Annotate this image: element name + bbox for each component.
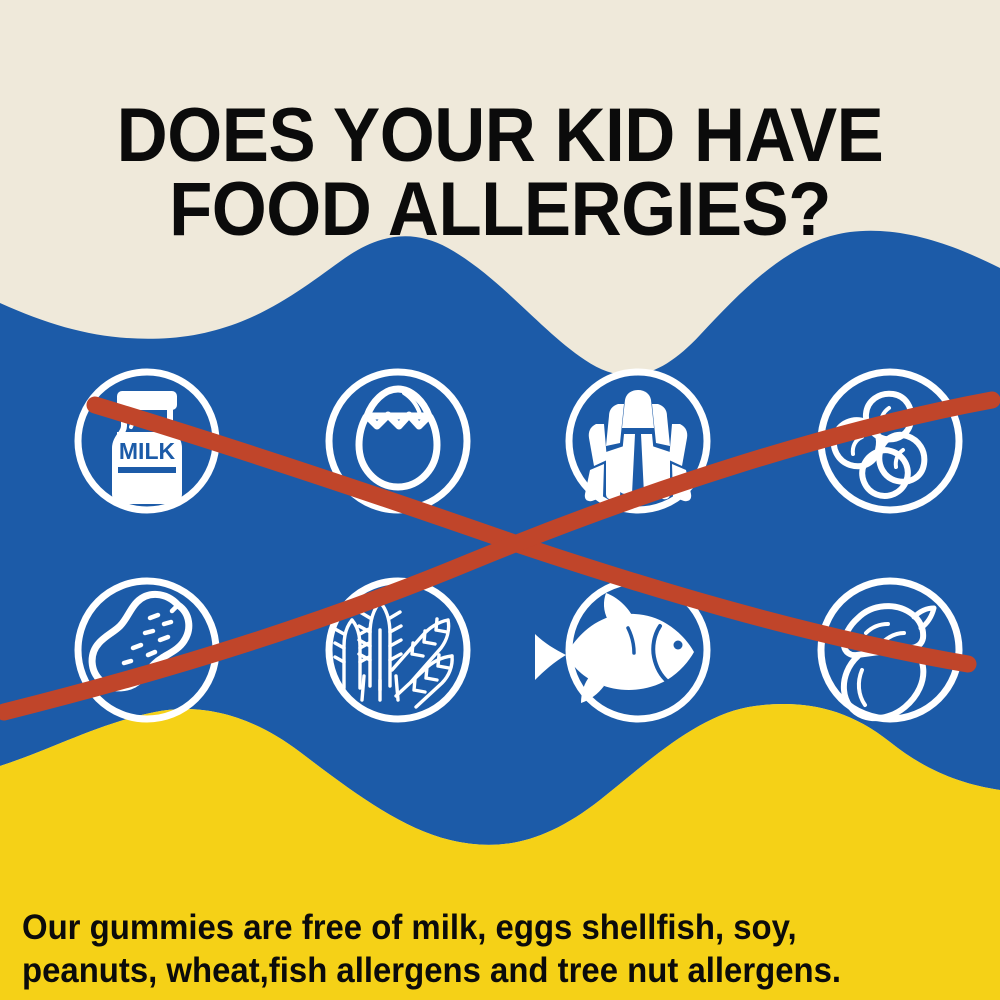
allergy-poster: DOES YOUR KID HAVE FOOD ALLERGIES? MILK (0, 0, 1000, 1000)
footer-line-1: Our gummies are free of milk, eggs shell… (22, 907, 924, 950)
crossout-stroke-ascending (4, 400, 992, 712)
footer-line-2: peanuts, wheat,fish allergens and tree n… (22, 950, 924, 993)
headline-line-1: DOES YOUR KID HAVE (35, 99, 965, 173)
page-title: DOES YOUR KID HAVE FOOD ALLERGIES? (35, 99, 965, 248)
footer-disclaimer: Our gummies are free of milk, eggs shell… (22, 907, 924, 992)
headline-line-2: FOOD ALLERGIES? (35, 173, 965, 247)
